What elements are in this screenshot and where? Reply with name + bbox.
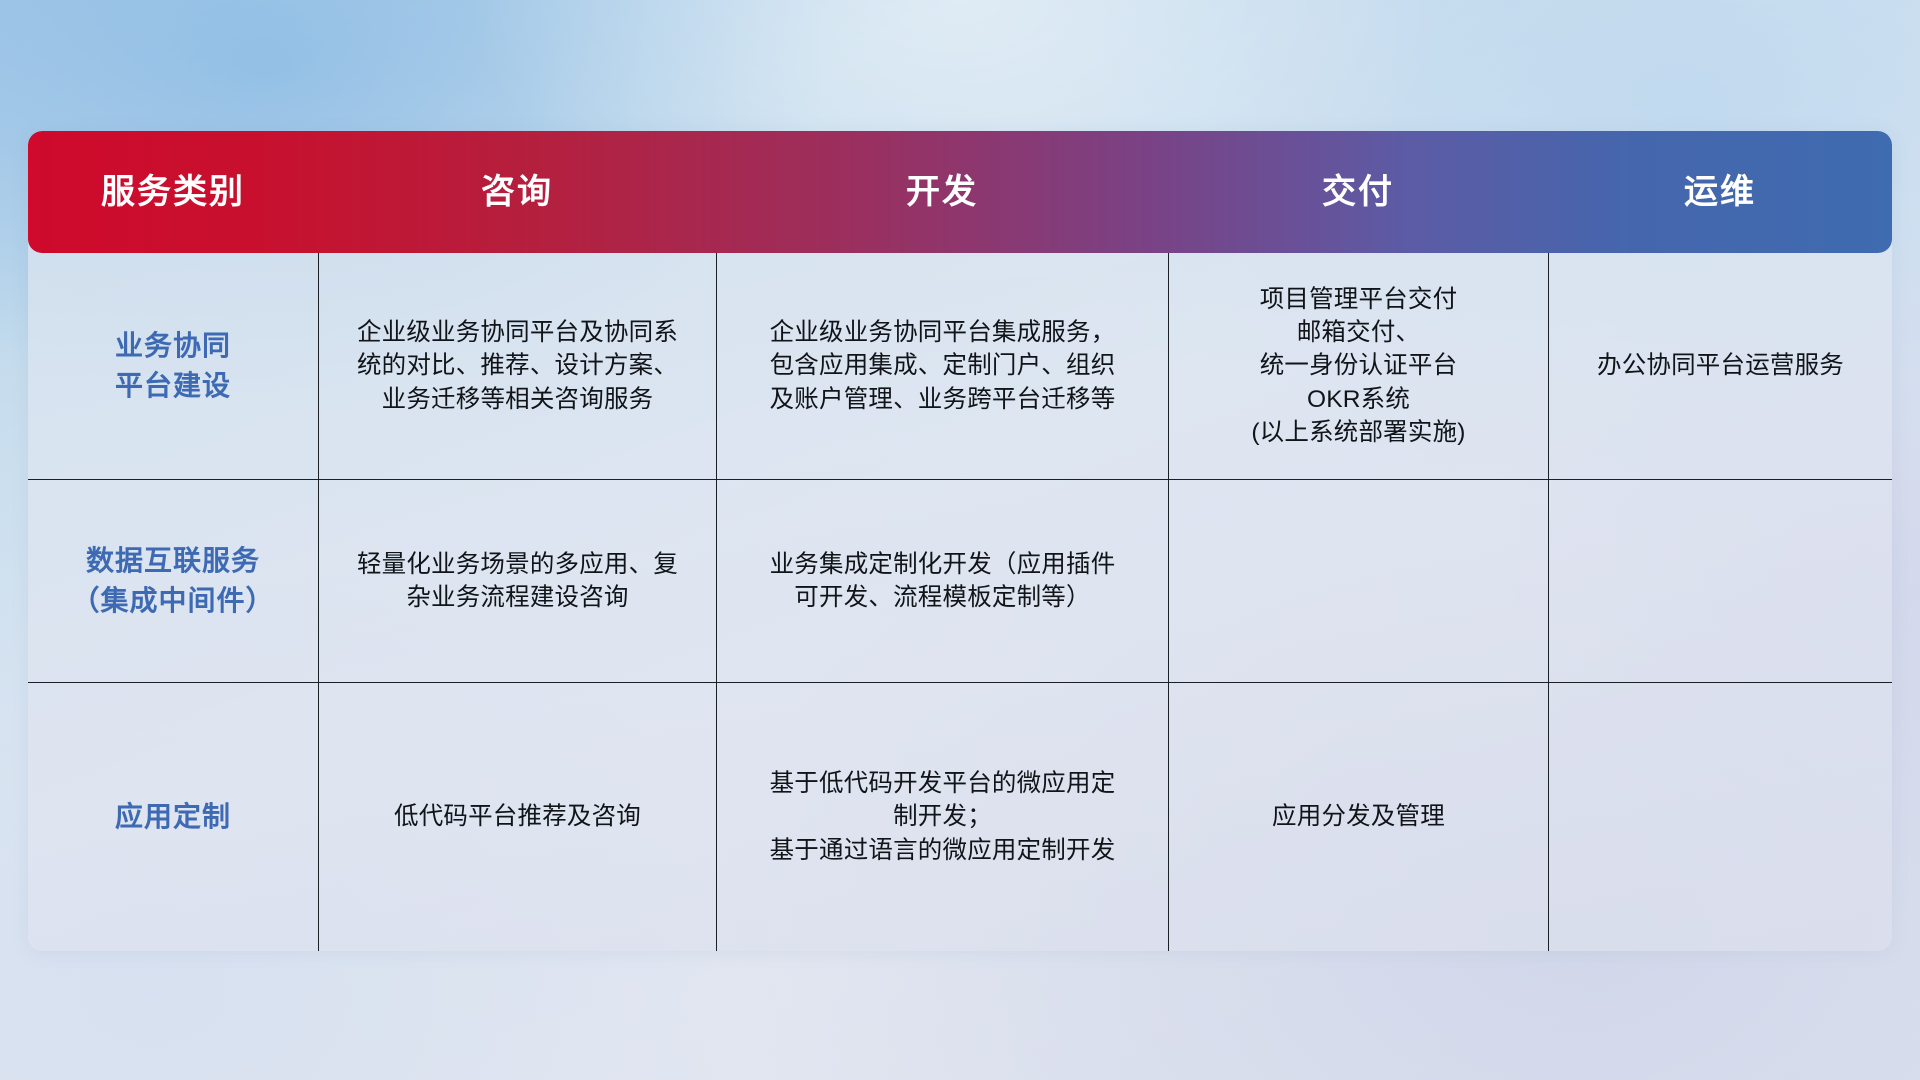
cell-delivery-3: 应用分发及管理 <box>1168 682 1548 951</box>
service-category-table: 服务类别 咨询 开发 交付 运维 业务协同 平台建设 企业级业务协同平台及协同系… <box>28 131 1892 951</box>
cell-development-3: 基于低代码开发平台的微应用定 制开发； 基于通过语言的微应用定制开发 <box>716 682 1168 951</box>
table-row: 应用定制 <box>28 682 318 951</box>
cell-consulting-1: 企业级业务协同平台及协同系 统的对比、推荐、设计方案、 业务迁移等相关咨询服务 <box>318 253 716 479</box>
cell-operations-2 <box>1548 479 1892 682</box>
cell-delivery-2 <box>1168 479 1548 682</box>
header-cell-operations[interactable]: 运维 <box>1548 175 1892 209</box>
cell-operations-1: 办公协同平台运营服务 <box>1548 253 1892 479</box>
table-header-row: 服务类别 咨询 开发 交付 运维 <box>28 131 1892 253</box>
table-row: 业务协同 平台建设 <box>28 253 318 479</box>
header-cell-service-category[interactable]: 服务类别 <box>28 175 318 209</box>
header-cell-consulting[interactable]: 咨询 <box>318 175 716 209</box>
cell-operations-3 <box>1548 682 1892 951</box>
cell-consulting-3: 低代码平台推荐及咨询 <box>318 682 716 951</box>
header-cell-development[interactable]: 开发 <box>716 175 1168 209</box>
header-cell-delivery[interactable]: 交付 <box>1168 175 1548 209</box>
row-category-label-2: 数据互联服务 （集成中间件） <box>71 541 274 621</box>
cell-development-1: 企业级业务协同平台集成服务， 包含应用集成、定制门户、组织 及账户管理、业务跨平… <box>716 253 1168 479</box>
cell-consulting-2: 轻量化业务场景的多应用、复 杂业务流程建设咨询 <box>318 479 716 682</box>
cell-development-2: 业务集成定制化开发（应用插件 可开发、流程模板定制等） <box>716 479 1168 682</box>
row-category-label-1: 业务协同 平台建设 <box>115 326 231 406</box>
row-category-label-3: 应用定制 <box>115 797 231 837</box>
table-body: 业务协同 平台建设 企业级业务协同平台及协同系 统的对比、推荐、设计方案、 业务… <box>28 253 1892 951</box>
table-row: 数据互联服务 （集成中间件） <box>28 479 318 682</box>
cell-delivery-1: 项目管理平台交付 邮箱交付、 统一身份认证平台 OKR系统 (以上系统部署实施) <box>1168 253 1548 479</box>
